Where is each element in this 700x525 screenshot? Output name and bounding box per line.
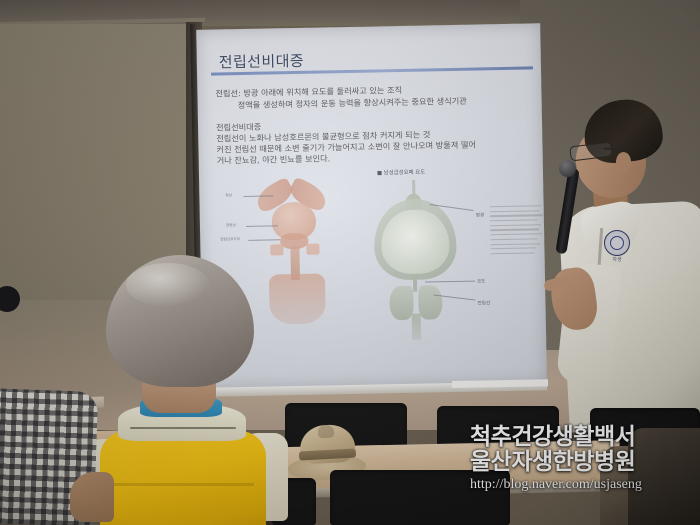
- watermark-url: http://blog.naver.com/usjaseng: [470, 476, 700, 494]
- watermark: 척추건강생활백서 울산자생한방병원 http://blog.naver.com/…: [470, 425, 700, 494]
- figure-right-label-1: 방광: [476, 212, 485, 218]
- audience-yellow-vest: [100, 431, 266, 525]
- watermark-line-2: 울산자생한방병원: [470, 450, 700, 475]
- leader-line-5: [425, 281, 475, 283]
- figure-left-label-3: 전립선요도부: [220, 237, 240, 242]
- figure-left-label-2: 전립선: [226, 223, 236, 228]
- speaker-ear: [616, 152, 631, 172]
- hospital-logo-badge: [604, 230, 630, 256]
- gland-block-left: [270, 244, 283, 255]
- prostate-lobe-right: [418, 285, 443, 319]
- bladder-lumen: [381, 209, 450, 274]
- speaker-person: 자생: [536, 96, 700, 426]
- figure-right-caption: ■ 남성급성요폐 요도: [377, 168, 425, 177]
- prostate-lobe-left: [389, 286, 414, 320]
- audience-vest-seam: [110, 483, 254, 486]
- photo-scene: 전립선비대증 전립선: 방광 아래에 위치해 요도를 둘러싸고 있는 조직 정액…: [0, 0, 700, 525]
- figure-right-label-2: 요도: [477, 278, 486, 284]
- gland-block-right: [306, 244, 319, 255]
- watermark-line-1: 척추건강생활백서: [470, 425, 700, 450]
- audience-hair-highlight: [126, 263, 210, 307]
- badge-label: 자생: [604, 256, 630, 265]
- figure-right-label-3: 전립선: [477, 300, 490, 306]
- leader-line-3: [248, 239, 280, 240]
- audience-collar-stripe: [130, 427, 236, 429]
- bladder-neck-shape: [413, 276, 417, 292]
- distal-urethra-shape: [412, 314, 421, 340]
- straw-hat-dent: [318, 425, 335, 439]
- audience-left-person: [0, 390, 108, 525]
- figure-left-label-1: 정낭: [225, 193, 232, 198]
- left-person-arm: [70, 472, 114, 522]
- slide-body-line-6: 거나 잔뇨감, 야간 빈뇨를 보인다.: [217, 152, 331, 166]
- slide-title: 전립선비대증: [219, 50, 305, 73]
